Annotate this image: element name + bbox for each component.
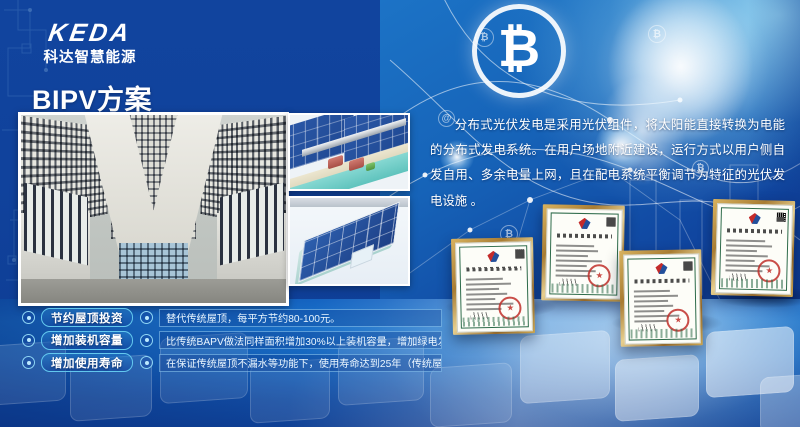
certificate-card[interactable]: [711, 199, 795, 297]
patent-emblem-icon: [578, 218, 590, 229]
pv-module-diagram: [288, 196, 410, 286]
feature-description: 在保证传统屋顶不漏水等功能下，使用寿命达到25年（传统屋顶5-10年左右）。: [159, 354, 442, 372]
official-seal-icon: [667, 308, 690, 331]
feature-row: 增加装机容量 比传统BAPV做法同样面积增加30%以上装机容量，增加绿电发电量。: [22, 331, 442, 350]
bullet-icon: [140, 356, 153, 369]
signature-icon: [470, 312, 488, 319]
bitcoin-mini-icon: ₿: [648, 25, 666, 43]
certificate-title: [557, 233, 612, 238]
qr-code-icon: [777, 213, 786, 222]
feature-row: 增加使用寿命 在保证传统屋顶不漏水等功能下，使用寿命达到25年（传统屋顶5-10…: [22, 353, 442, 372]
feature-tag[interactable]: 增加使用寿命: [41, 353, 133, 372]
patent-emblem-icon: [655, 263, 667, 274]
certificate-title: [466, 266, 521, 272]
official-seal-icon: [588, 264, 611, 287]
bullet-icon: [140, 311, 153, 324]
slide-canvas: ₿ @ ₿ ₿ ₿ ₿ KEDA 科达智慧能源 BIPV方案 ₿ 分布式光伏发电…: [0, 0, 800, 427]
logo-wordmark: KEDA: [24, 21, 156, 46]
certificate-title: [727, 228, 782, 234]
feature-tag[interactable]: 增加装机容量: [41, 331, 133, 350]
brand-logo: KEDA 科达智慧能源: [26, 21, 154, 66]
feature-description: 比传统BAPV做法同样面积增加30%以上装机容量，增加绿电发电量。: [159, 331, 442, 349]
feature-tag[interactable]: 节约屋顶投资: [41, 308, 133, 327]
signature-icon: [729, 273, 747, 280]
bitcoin-icon: ₿: [472, 4, 566, 98]
atrium-photo: [18, 112, 289, 306]
official-seal-icon: [499, 296, 522, 319]
bullet-icon: [22, 311, 35, 324]
bullet-icon: [22, 356, 35, 369]
qr-code-icon: [607, 217, 616, 226]
bullet-icon: [22, 334, 35, 347]
certificate-card[interactable]: [451, 237, 535, 335]
certificate-card[interactable]: [541, 204, 625, 301]
patent-emblem-icon: [487, 251, 499, 262]
feature-list: 节约屋顶投资 替代传统屋顶，每平方节约80-100元。 增加装机容量 比传统BA…: [22, 308, 442, 376]
bitcoin-glyph: ₿: [498, 23, 540, 75]
certificate-title: [634, 278, 689, 283]
feature-description: 替代传统屋顶，每平方节约80-100元。: [159, 309, 442, 327]
patent-emblem-icon: [749, 213, 761, 224]
mounting-detail-diagram: [288, 113, 410, 191]
logo-company-name: 科达智慧能源: [26, 51, 154, 66]
certificate-card[interactable]: [619, 249, 703, 346]
qr-code-icon: [683, 261, 692, 270]
signature-icon: [559, 278, 577, 285]
feature-row: 节约屋顶投资 替代传统屋顶，每平方节约80-100元。: [22, 308, 442, 327]
qr-code-icon: [515, 249, 524, 258]
bullet-icon: [140, 334, 153, 347]
signature-icon: [638, 324, 656, 331]
